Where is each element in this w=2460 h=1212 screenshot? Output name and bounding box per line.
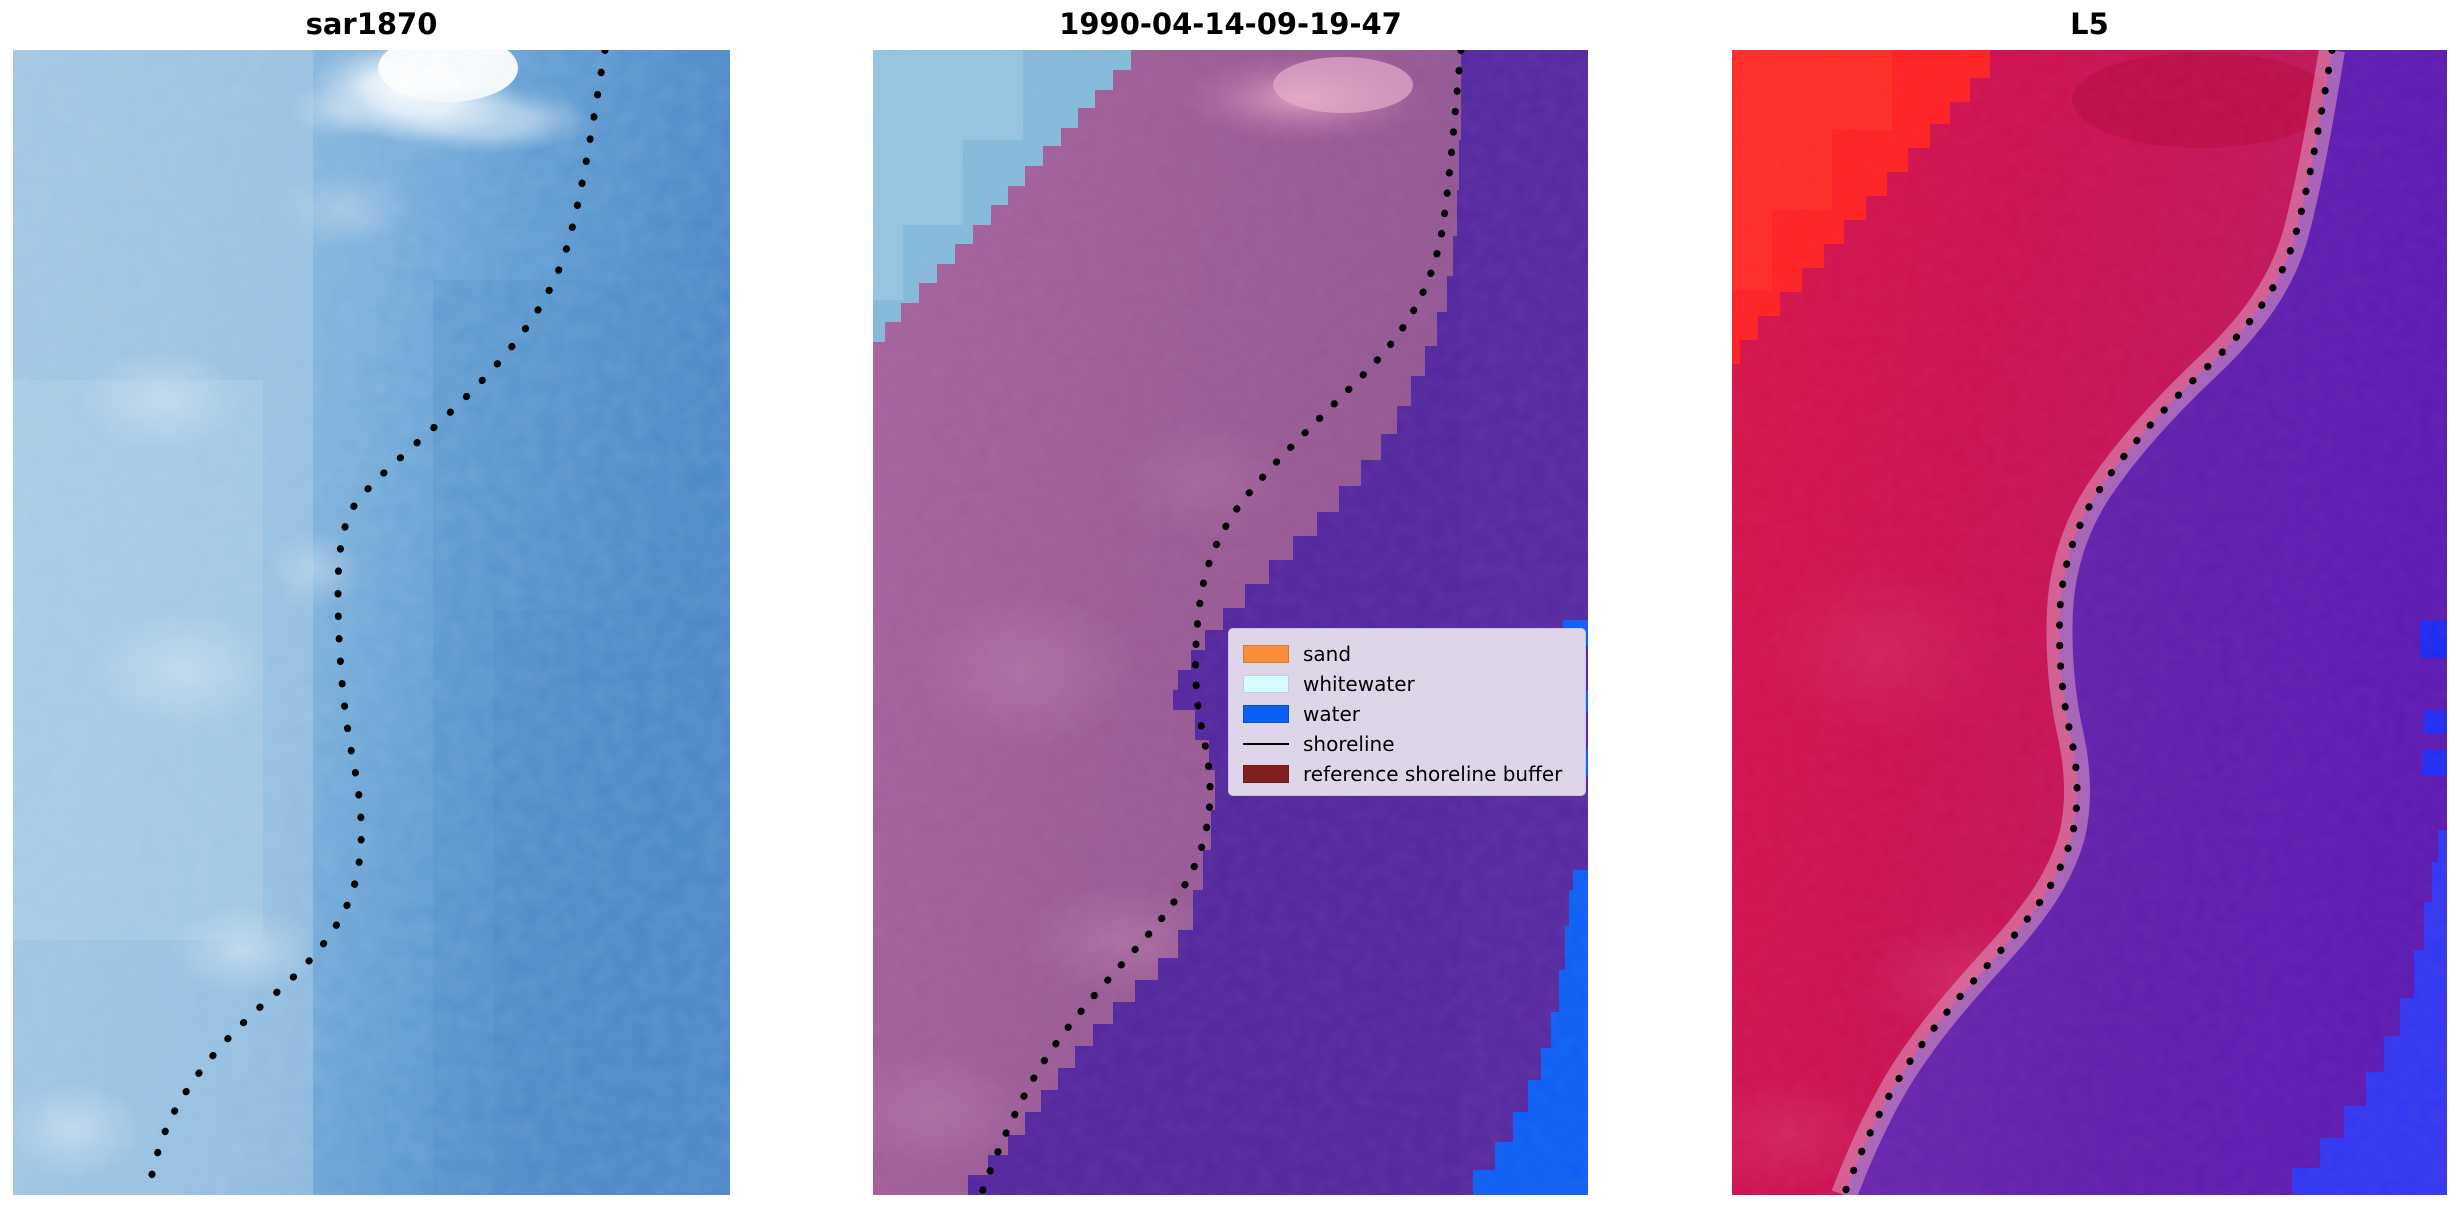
legend-item-water: water (1243, 699, 1573, 729)
legend-label-reference-shoreline-buffer: reference shoreline buffer (1303, 764, 1562, 784)
shoreline-swatch (1243, 735, 1289, 753)
sar-raster (13, 50, 730, 1195)
legend-item-whitewater: whitewater (1243, 669, 1573, 699)
l5-raster (1732, 50, 2447, 1195)
legend-label-sand: sand (1303, 644, 1351, 664)
figure-canvas: sar1870 1990-04-14-09-19-47 L5 (0, 0, 2460, 1212)
reference-shoreline-buffer-swatch (1243, 765, 1289, 783)
panel-sar-image[interactable] (13, 50, 730, 1195)
legend-item-sand: sand (1243, 639, 1573, 669)
legend-item-shoreline: shoreline (1243, 729, 1573, 759)
panel-l5-image[interactable] (1732, 50, 2447, 1195)
panel-title-sar: sar1870 (13, 6, 730, 42)
legend-label-water: water (1303, 704, 1360, 724)
classified-raster (873, 50, 1588, 1195)
whitewater-swatch (1243, 675, 1289, 693)
sand-swatch (1243, 645, 1289, 663)
legend-label-whitewater: whitewater (1303, 674, 1415, 694)
legend-item-reference-shoreline-buffer: reference shoreline buffer (1243, 759, 1573, 789)
legend-label-shoreline: shoreline (1303, 734, 1395, 754)
panel-title-l5: L5 (1732, 6, 2447, 42)
legend-box: sand whitewater water shoreline referenc… (1228, 628, 1586, 796)
panel-classified-image[interactable]: sand whitewater water shoreline referenc… (873, 50, 1588, 1195)
water-swatch (1243, 705, 1289, 723)
panel-title-classified: 1990-04-14-09-19-47 (873, 6, 1588, 42)
